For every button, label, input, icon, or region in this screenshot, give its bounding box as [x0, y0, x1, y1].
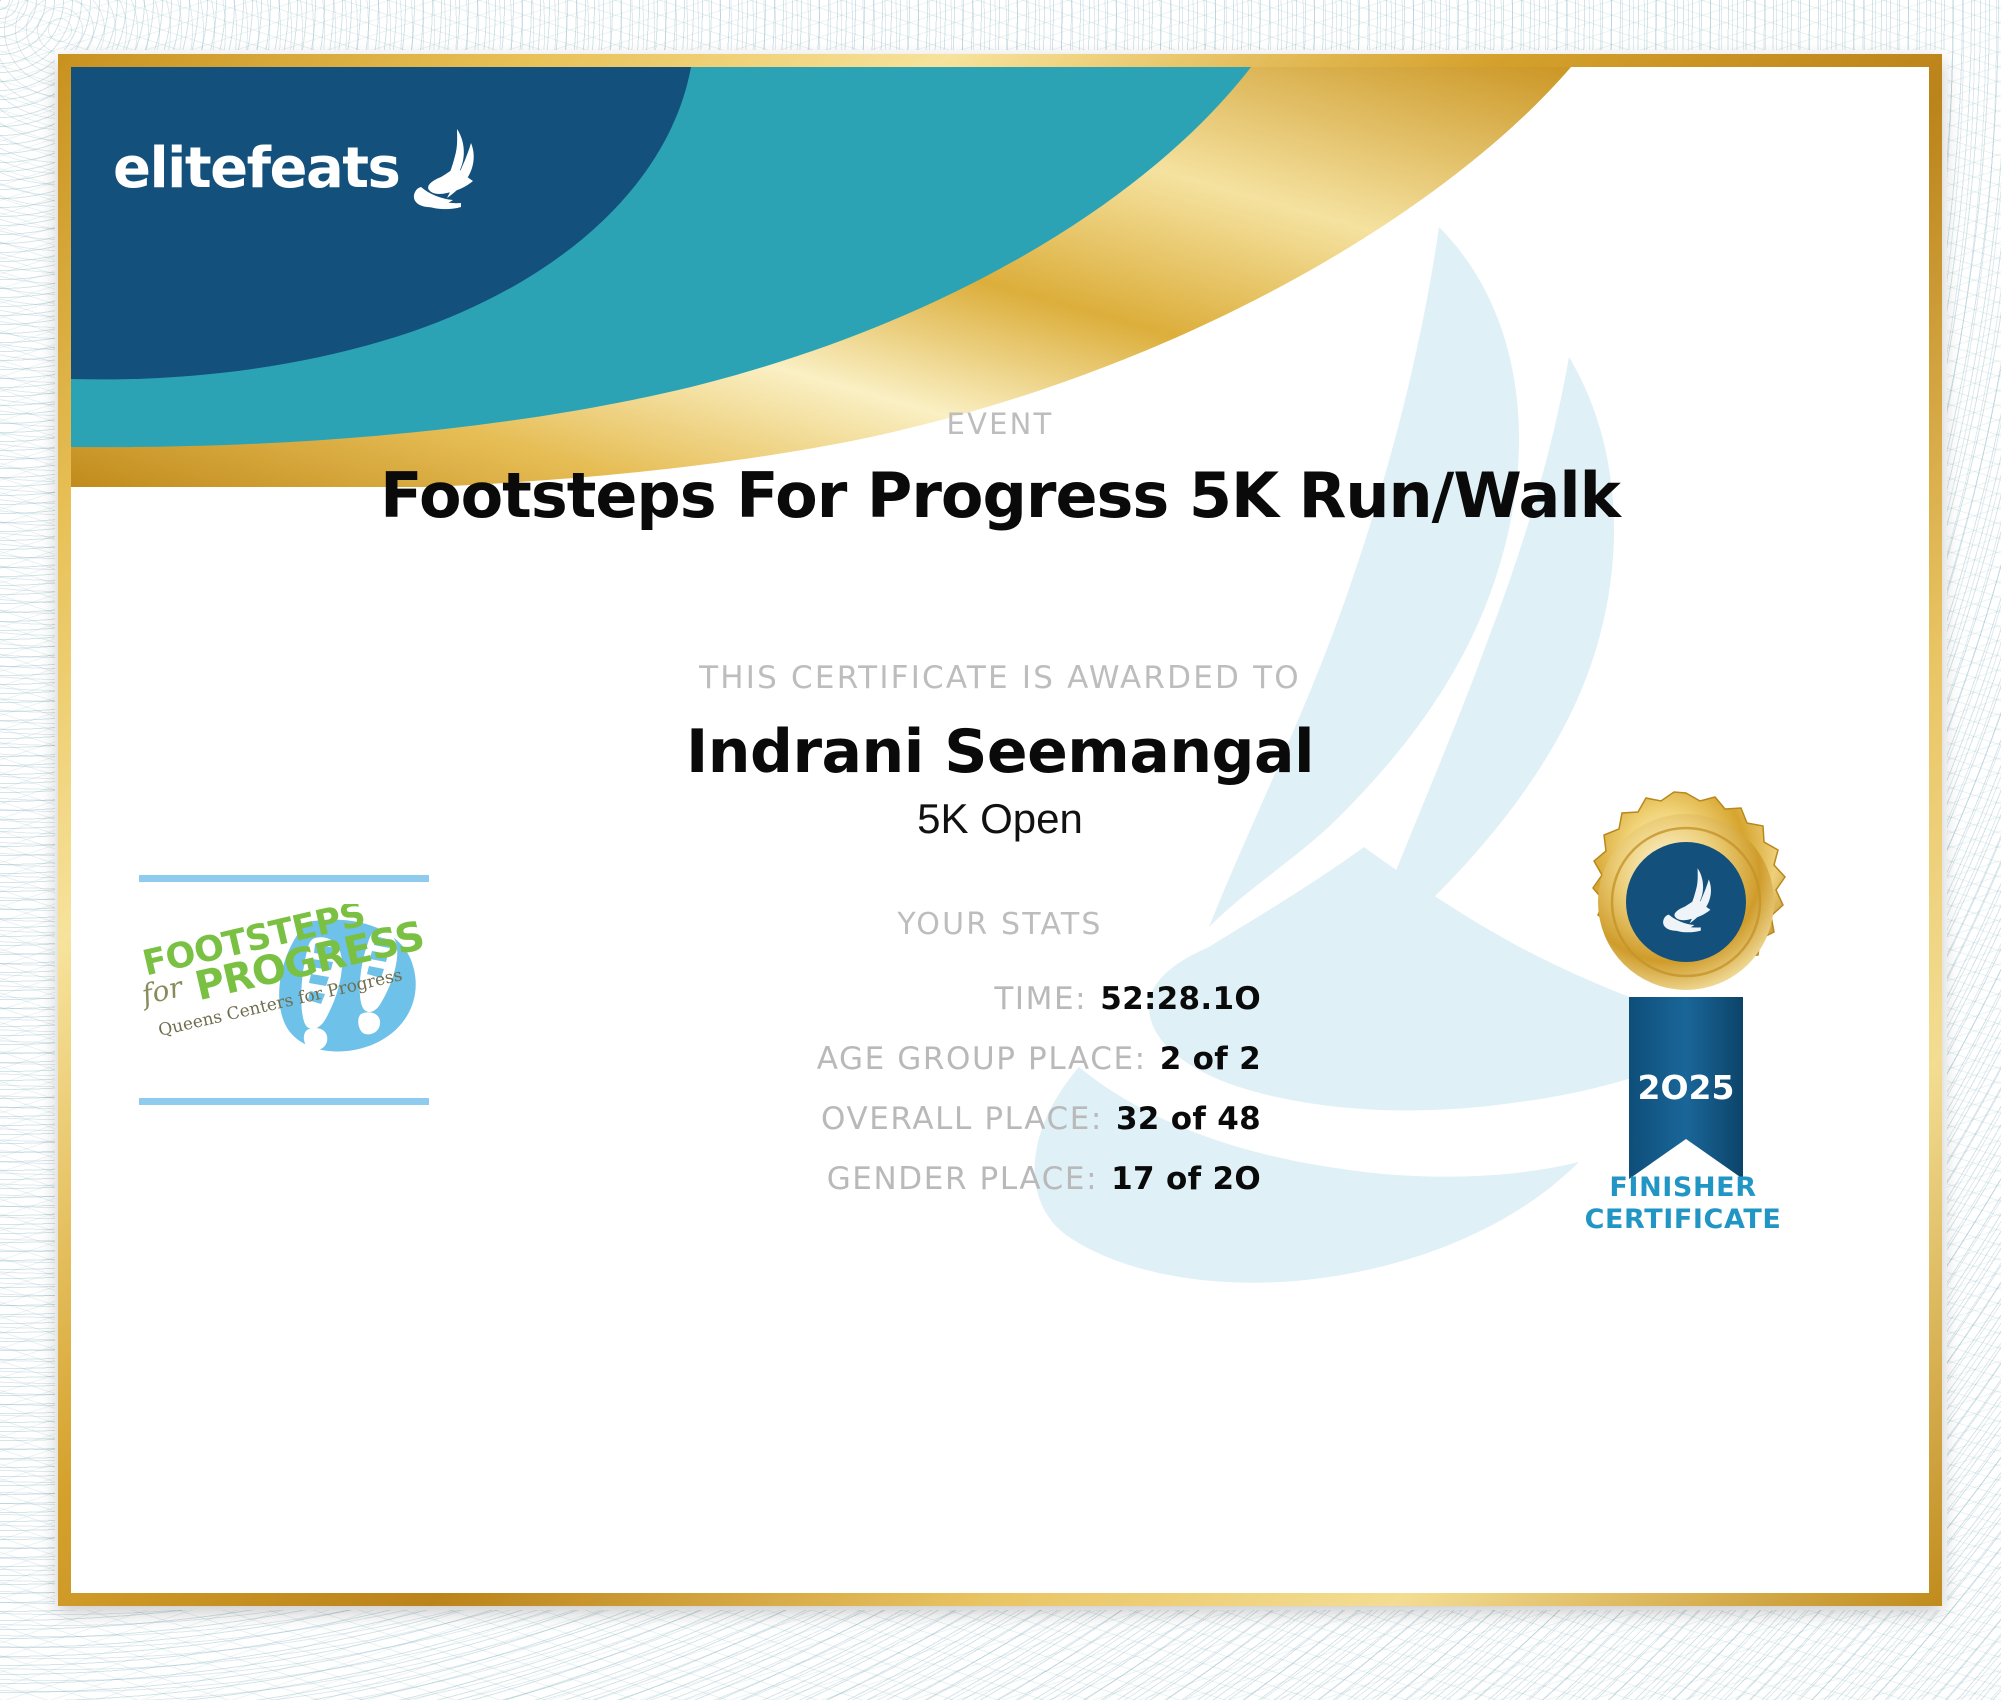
stat-key: GENDER PLACE: — [827, 1161, 1098, 1197]
stat-value: 52:28.1O — [1100, 981, 1261, 1017]
certificate-frame: elitefeats EVENT Footsteps For Progress … — [58, 54, 1942, 1606]
footsteps-for-progress-logo-icon: FOOTSTEPS for PROGRESS Queens Centers fo… — [139, 904, 429, 1076]
brand-logo: elitefeats — [113, 125, 483, 211]
finisher-caption-line1: FINISHER — [1533, 1172, 1833, 1204]
table-row: OVERALL PLACE: 32 of 48 — [71, 1099, 1261, 1159]
finisher-caption-line2: CERTIFICATE — [1533, 1204, 1833, 1236]
stat-value: 17 of 2O — [1111, 1161, 1261, 1197]
winged-foot-icon — [405, 125, 483, 211]
finisher-caption: FINISHER CERTIFICATE — [1533, 1172, 1833, 1236]
stat-value: 32 of 48 — [1116, 1101, 1261, 1137]
medal-graphic: 2O25 — [1551, 787, 1821, 1227]
stat-value: 2 of 2 — [1160, 1041, 1261, 1077]
stat-key: TIME: — [994, 981, 1087, 1017]
finisher-medal: 2O25 — [1551, 787, 1821, 1227]
brand-logo-text: elitefeats — [113, 136, 399, 201]
recipient-name: Indrani Seemangal — [71, 717, 1929, 787]
stat-key: OVERALL PLACE: — [821, 1101, 1103, 1137]
event-label: EVENT — [71, 407, 1929, 441]
sponsor-rule-bottom — [139, 1098, 429, 1105]
table-row: GENDER PLACE: 17 of 2O — [71, 1159, 1261, 1219]
sponsor-logo-block: FOOTSTEPS for PROGRESS Queens Centers fo… — [139, 875, 429, 1105]
medal-year-text: 2O25 — [1638, 1068, 1735, 1107]
stat-key: AGE GROUP PLACE: — [817, 1041, 1147, 1077]
certificate-page: elitefeats EVENT Footsteps For Progress … — [0, 0, 2001, 1700]
event-title: Footsteps For Progress 5K Run/Walk — [71, 459, 1929, 532]
awarded-to-label: THIS CERTIFICATE IS AWARDED TO — [71, 660, 1929, 696]
sponsor-rule-top — [139, 875, 429, 882]
sponsor-logo: FOOTSTEPS for PROGRESS Queens Centers fo… — [139, 904, 429, 1076]
